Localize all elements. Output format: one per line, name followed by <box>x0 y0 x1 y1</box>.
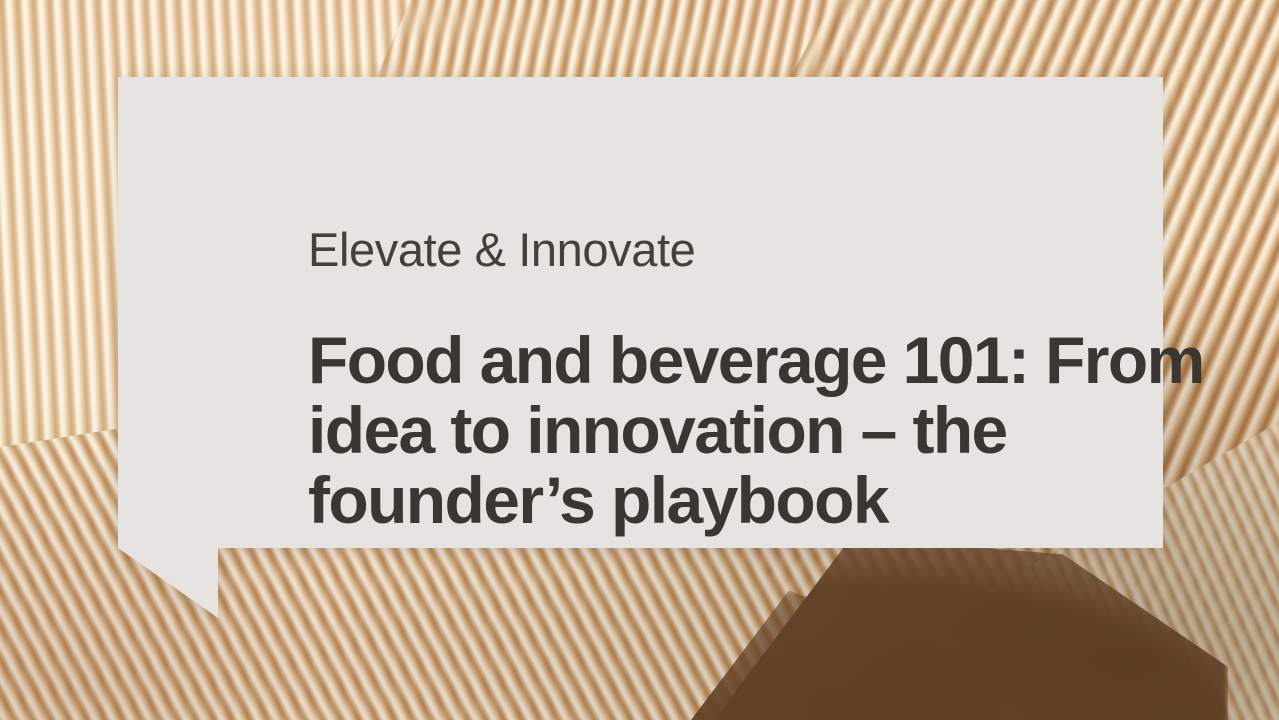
eyebrow-text: Elevate & Innovate <box>308 226 695 273</box>
page-title-line-1: Food and beverage 101: From <box>308 325 1208 395</box>
title-card: Elevate & Innovate Food and beverage 101… <box>118 77 1163 618</box>
page-title: Food and beverage 101: From idea to inno… <box>308 325 1208 535</box>
page-title-line-3: founder’s playbook <box>308 465 1208 535</box>
title-slide: Elevate & Innovate Food and beverage 101… <box>0 0 1279 720</box>
page-title-line-2: idea to innovation – the <box>308 395 1208 465</box>
